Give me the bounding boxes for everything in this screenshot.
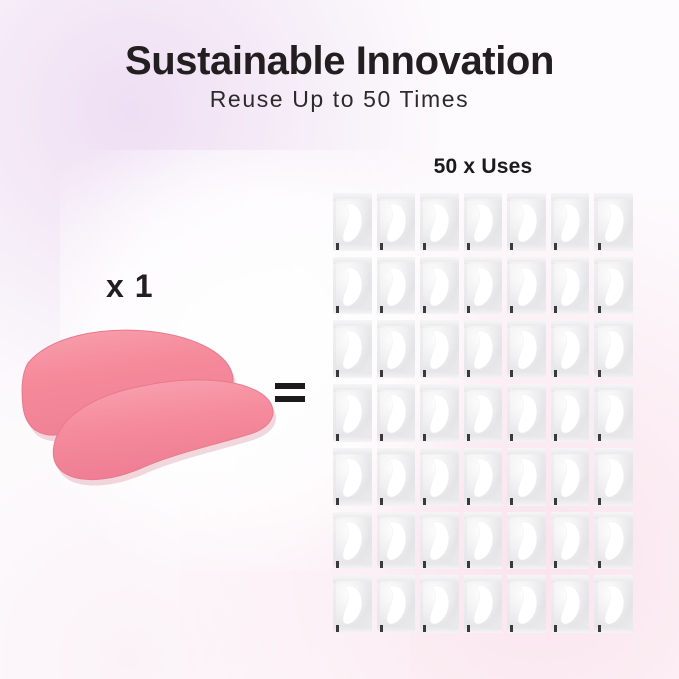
sachet-cell xyxy=(464,193,503,251)
eye-patch-crescent-icon xyxy=(558,264,582,307)
tear-notch-icon xyxy=(467,625,470,632)
sachet-cell xyxy=(420,257,459,315)
page-title: Sustainable Innovation xyxy=(0,40,679,82)
sachet-cell xyxy=(333,193,372,251)
tear-notch-icon xyxy=(380,434,383,441)
eye-patch-crescent-icon xyxy=(515,264,539,307)
eye-patch-crescent-icon xyxy=(340,519,364,562)
tear-notch-icon xyxy=(336,370,339,377)
sachet-cell xyxy=(551,512,590,570)
eye-patch-crescent-icon xyxy=(558,392,582,435)
eye-patch-crescent-icon xyxy=(558,519,582,562)
eye-patch-crescent-icon xyxy=(427,392,451,435)
sachet-cell xyxy=(551,257,590,315)
eye-patch-crescent-icon xyxy=(384,328,408,371)
sachet-cell xyxy=(594,512,633,570)
eye-patch-crescent-icon xyxy=(602,392,626,435)
sachet-cell xyxy=(333,320,372,378)
eye-patch-crescent-icon xyxy=(340,455,364,498)
eye-patch-crescent-icon xyxy=(384,392,408,435)
sachet-cell xyxy=(551,384,590,442)
tear-notch-icon xyxy=(336,243,339,250)
sachet-cell xyxy=(464,512,503,570)
eye-patch-crescent-icon xyxy=(558,328,582,371)
tear-notch-icon xyxy=(336,625,339,632)
tear-notch-icon xyxy=(380,306,383,313)
eye-patch-crescent-icon xyxy=(515,455,539,498)
eye-patch-crescent-icon xyxy=(471,455,495,498)
sachet-cell xyxy=(333,512,372,570)
tear-notch-icon xyxy=(598,625,601,632)
tear-notch-icon xyxy=(336,498,339,505)
eye-patch-crescent-icon xyxy=(602,264,626,307)
tear-notch-icon xyxy=(554,370,557,377)
sachet-cell xyxy=(333,575,372,633)
sachet-cell xyxy=(333,384,372,442)
eye-patch-crescent-icon xyxy=(427,455,451,498)
tear-notch-icon xyxy=(467,561,470,568)
tear-notch-icon xyxy=(467,370,470,377)
tear-notch-icon xyxy=(554,243,557,250)
sachet-cell xyxy=(507,512,546,570)
tear-notch-icon xyxy=(554,306,557,313)
sachet-cell xyxy=(551,448,590,506)
tear-notch-icon xyxy=(336,306,339,313)
reusable-patch-group xyxy=(0,300,280,500)
eye-patch-crescent-icon xyxy=(340,583,364,626)
tear-notch-icon xyxy=(423,434,426,441)
tear-notch-icon xyxy=(467,498,470,505)
tear-notch-icon xyxy=(510,243,513,250)
tear-notch-icon xyxy=(510,306,513,313)
eye-patch-crescent-icon xyxy=(427,264,451,307)
eye-patch-crescent-icon xyxy=(427,201,451,244)
sachet-cell xyxy=(507,448,546,506)
sachet-cell xyxy=(464,384,503,442)
tear-notch-icon xyxy=(423,561,426,568)
eye-patch-crescent-icon xyxy=(515,519,539,562)
tear-notch-icon xyxy=(380,243,383,250)
eye-patch-crescent-icon xyxy=(515,201,539,244)
page-subtitle: Reuse Up to 50 Times xyxy=(0,86,679,114)
tear-notch-icon xyxy=(554,434,557,441)
eye-patch-crescent-icon xyxy=(384,583,408,626)
tear-notch-icon xyxy=(423,625,426,632)
eye-patch-crescent-icon xyxy=(340,328,364,371)
eye-patch-crescent-icon xyxy=(384,455,408,498)
sachet-cell xyxy=(377,320,416,378)
sachet-cell xyxy=(377,193,416,251)
eye-patch-crescent-icon xyxy=(471,519,495,562)
tear-notch-icon xyxy=(554,561,557,568)
grid-caption: 50 x Uses xyxy=(333,155,633,179)
sachet-cell xyxy=(594,575,633,633)
tear-notch-icon xyxy=(467,243,470,250)
tear-notch-icon xyxy=(423,243,426,250)
sachet-cell xyxy=(420,448,459,506)
tear-notch-icon xyxy=(380,370,383,377)
tear-notch-icon xyxy=(510,370,513,377)
sachet-cell xyxy=(420,384,459,442)
tear-notch-icon xyxy=(598,561,601,568)
tear-notch-icon xyxy=(336,561,339,568)
eye-patch-crescent-icon xyxy=(50,370,280,490)
sachet-cell xyxy=(377,512,416,570)
eye-patch-crescent-icon xyxy=(558,583,582,626)
tear-notch-icon xyxy=(467,306,470,313)
sachet-cell xyxy=(507,193,546,251)
tear-notch-icon xyxy=(423,498,426,505)
tear-notch-icon xyxy=(467,434,470,441)
eye-patch-crescent-icon xyxy=(471,328,495,371)
eye-patch-crescent-icon xyxy=(427,583,451,626)
eye-patch-crescent-icon xyxy=(340,264,364,307)
tear-notch-icon xyxy=(423,306,426,313)
sachet-cell xyxy=(377,448,416,506)
sachet-cell xyxy=(464,320,503,378)
eye-patch-crescent-icon xyxy=(471,583,495,626)
sachet-cell xyxy=(333,257,372,315)
sachet-cell xyxy=(420,193,459,251)
tear-notch-icon xyxy=(598,306,601,313)
tear-notch-icon xyxy=(336,434,339,441)
sachet-cell xyxy=(377,257,416,315)
sachet-cell xyxy=(551,320,590,378)
eye-patch-crescent-icon xyxy=(602,455,626,498)
sachet-cell xyxy=(507,575,546,633)
sachet-cell xyxy=(594,320,633,378)
sachet-cell xyxy=(377,384,416,442)
tear-notch-icon xyxy=(554,498,557,505)
tear-notch-icon xyxy=(423,370,426,377)
sachet-cell xyxy=(377,575,416,633)
sachet-cell xyxy=(507,320,546,378)
eye-patch-crescent-icon xyxy=(558,455,582,498)
sachet-cell xyxy=(420,512,459,570)
eye-patch-crescent-icon xyxy=(602,328,626,371)
eye-patch-crescent-icon xyxy=(602,201,626,244)
eye-patch-crescent-icon xyxy=(515,583,539,626)
sachet-cell xyxy=(551,193,590,251)
sachet-cell xyxy=(464,575,503,633)
tear-notch-icon xyxy=(598,370,601,377)
tear-notch-icon xyxy=(380,498,383,505)
tear-notch-icon xyxy=(598,434,601,441)
sachet-cell xyxy=(507,257,546,315)
eye-patch-crescent-icon xyxy=(602,519,626,562)
tear-notch-icon xyxy=(510,498,513,505)
eye-patch-crescent-icon xyxy=(515,328,539,371)
infographic-canvas: Sustainable Innovation Reuse Up to 50 Ti… xyxy=(0,0,679,679)
eye-patch-crescent-icon xyxy=(384,201,408,244)
tear-notch-icon xyxy=(380,561,383,568)
disposable-sachet-grid xyxy=(333,193,633,633)
sachet-cell xyxy=(594,384,633,442)
tear-notch-icon xyxy=(510,625,513,632)
tear-notch-icon xyxy=(380,625,383,632)
sachet-cell xyxy=(507,384,546,442)
eye-patch-crescent-icon xyxy=(384,519,408,562)
pink-eye-patch-lower xyxy=(50,370,280,490)
sachet-cell xyxy=(464,448,503,506)
sachet-cell xyxy=(420,575,459,633)
sachet-cell xyxy=(420,320,459,378)
sachet-cell xyxy=(464,257,503,315)
sachet-cell xyxy=(594,448,633,506)
tear-notch-icon xyxy=(598,498,601,505)
tear-notch-icon xyxy=(554,625,557,632)
eye-patch-crescent-icon xyxy=(602,583,626,626)
sachet-cell xyxy=(551,575,590,633)
eye-patch-crescent-icon xyxy=(558,201,582,244)
eye-patch-crescent-icon xyxy=(515,392,539,435)
sachet-cell xyxy=(594,257,633,315)
tear-notch-icon xyxy=(510,561,513,568)
tear-notch-icon xyxy=(510,434,513,441)
eye-patch-crescent-icon xyxy=(471,264,495,307)
eye-patch-crescent-icon xyxy=(427,328,451,371)
eye-patch-crescent-icon xyxy=(427,519,451,562)
eye-patch-crescent-icon xyxy=(384,264,408,307)
sachet-cell xyxy=(594,193,633,251)
eye-patch-crescent-icon xyxy=(340,201,364,244)
sachet-cell xyxy=(333,448,372,506)
eye-patch-crescent-icon xyxy=(471,201,495,244)
tear-notch-icon xyxy=(598,243,601,250)
eye-patch-crescent-icon xyxy=(471,392,495,435)
eye-patch-crescent-icon xyxy=(340,392,364,435)
